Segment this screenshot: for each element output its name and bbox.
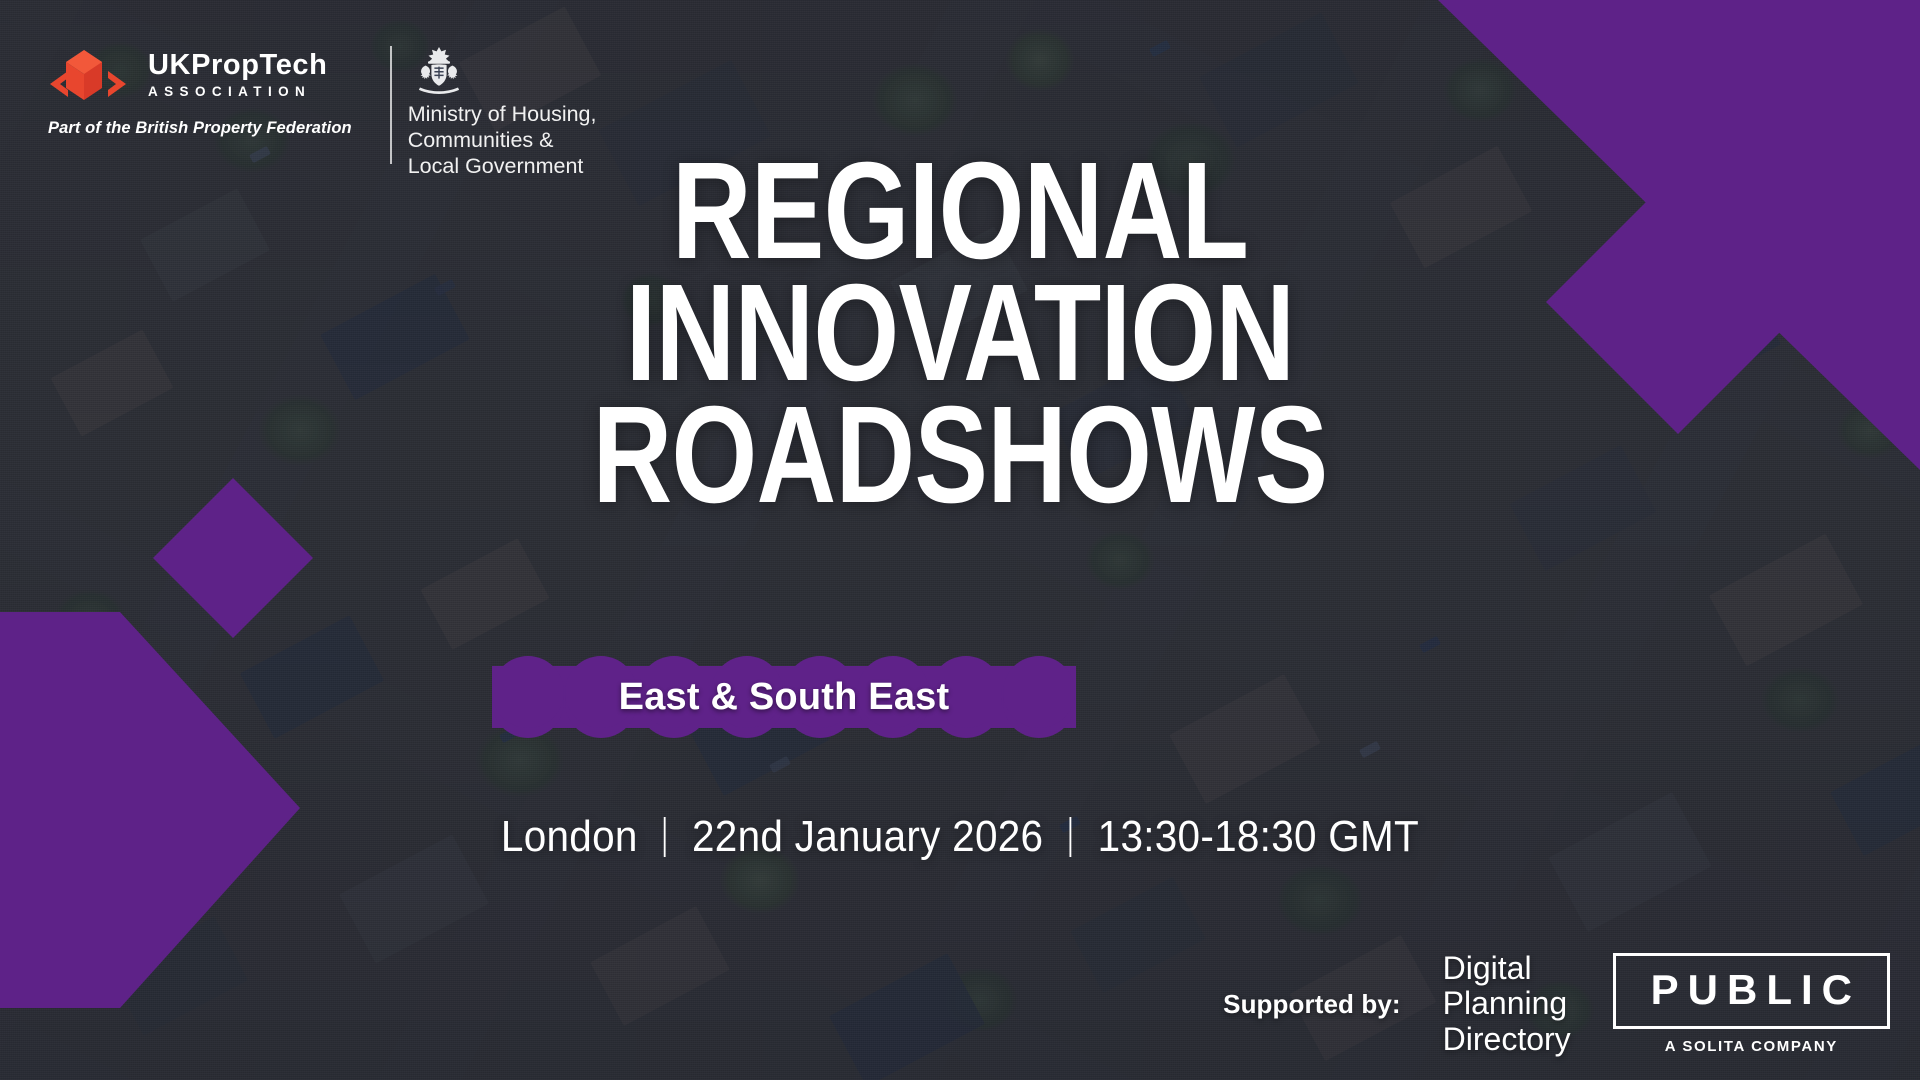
region-banner: East & South East: [492, 636, 1076, 758]
event-details-line: London 22nd January 2026 13:30-18:30 GMT: [77, 812, 1843, 862]
uk-proptech-arrow-icon: [48, 44, 128, 106]
uk-proptech-association-text: ASSOCIATION: [148, 85, 327, 99]
dpd-line-2: Planning: [1443, 986, 1571, 1022]
uk-proptech-wordmark: UKPropTech: [148, 51, 327, 80]
event-location: London: [501, 812, 638, 861]
title-line-regional: REGIONAL: [192, 150, 1728, 272]
title-line-innovation: INNOVATION: [192, 272, 1728, 394]
title-line-roadshows: ROADSHOWS: [192, 394, 1728, 516]
detail-separator-2: [1070, 817, 1072, 857]
event-poster: UKPropTech ASSOCIATION Part of the Briti…: [0, 0, 1920, 1080]
page-title: REGIONAL INNOVATION ROADSHOWS: [0, 150, 1920, 516]
royal-coat-of-arms-icon: [408, 46, 470, 98]
region-banner-label: East & South East: [492, 636, 1076, 758]
dpd-line-3: Directory: [1443, 1022, 1571, 1058]
event-time: 13:30-18:30 GMT: [1098, 812, 1419, 861]
uk-proptech-subtitle: Part of the British Property Federation: [48, 119, 352, 138]
public-wordmark: PUBLIC: [1613, 953, 1890, 1029]
detail-separator-1: [664, 817, 666, 857]
public-logo[interactable]: PUBLIC A SOLITA COMPANY: [1613, 953, 1890, 1055]
uk-proptech-association-logo[interactable]: UKPropTech ASSOCIATION Part of the Briti…: [48, 44, 352, 138]
supporters-bar: Supported by: Digital Planning Directory…: [1223, 951, 1890, 1058]
logo-divider-rule: [390, 46, 392, 164]
public-tagline: A SOLITA COMPANY: [1665, 1038, 1838, 1055]
supported-by-label: Supported by:: [1223, 989, 1401, 1020]
ministry-line-1: Ministry of Housing,: [408, 102, 597, 128]
event-date: 22nd January 2026: [692, 812, 1043, 861]
digital-planning-directory-logo[interactable]: Digital Planning Directory: [1443, 951, 1571, 1058]
dpd-line-1: Digital: [1443, 951, 1571, 987]
